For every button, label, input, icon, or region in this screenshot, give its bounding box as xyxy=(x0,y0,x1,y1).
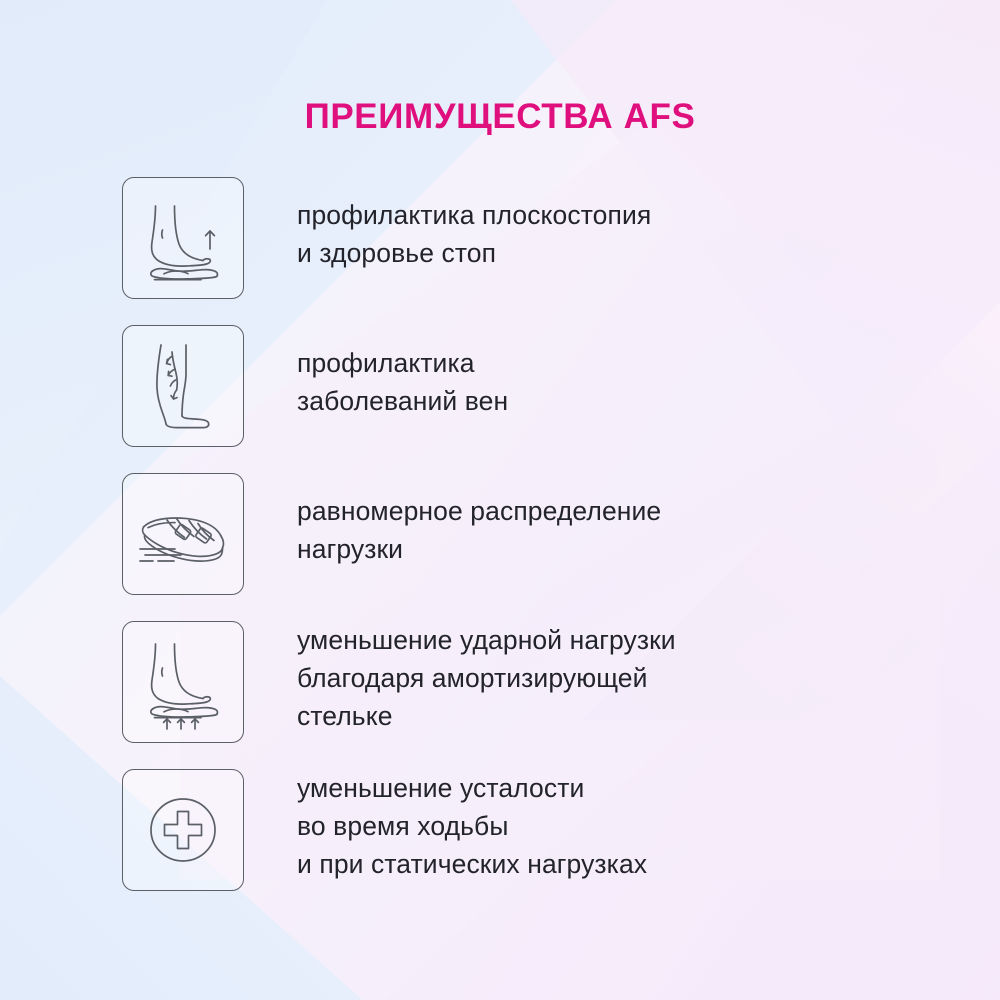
benefit-icon-box-5 xyxy=(122,769,244,891)
benefit-item-5: уменьшение усталости во время ходьбы и п… xyxy=(0,769,1000,917)
poster-canvas: ПРЕИМУЩЕСТВА AFS xyxy=(0,0,1000,1000)
foot-on-insole-up-arrow-icon xyxy=(131,186,235,290)
benefit-line: заболеваний вен xyxy=(297,382,857,420)
benefit-line: во время ходьбы xyxy=(297,807,857,845)
benefit-line: нагрузки xyxy=(297,530,857,568)
foot-on-insole-three-arrows-icon xyxy=(131,630,235,734)
benefit-line: стельке xyxy=(297,697,857,735)
benefit-icon-box-2 xyxy=(122,325,244,447)
benefit-item-1: профилактика плоскостопия и здоровье сто… xyxy=(0,177,1000,325)
benefit-line: уменьшение усталости xyxy=(297,769,857,807)
benefit-icon-box-1 xyxy=(122,177,244,299)
benefit-item-4: уменьшение ударной нагрузки благодаря ам… xyxy=(0,621,1000,769)
benefit-line: профилактика xyxy=(297,344,857,382)
sandal-motion-icon xyxy=(131,482,235,586)
benefit-text-4: уменьшение ударной нагрузки благодаря ам… xyxy=(297,621,857,735)
benefit-line: уменьшение ударной нагрузки xyxy=(297,621,857,659)
benefit-item-2: профилактика заболеваний вен xyxy=(0,325,1000,473)
page-title: ПРЕИМУЩЕСТВА AFS xyxy=(0,97,1000,137)
benefit-text-1: профилактика плоскостопия и здоровье сто… xyxy=(297,196,857,272)
leg-veins-icon xyxy=(131,334,235,438)
benefit-text-3: равномерное распределение нагрузки xyxy=(297,492,857,568)
benefit-line: и при статических нагрузках xyxy=(297,845,857,883)
benefit-line: благодаря амортизирующей xyxy=(297,659,857,697)
medical-cross-circle-icon xyxy=(131,778,235,882)
benefit-text-5: уменьшение усталости во время ходьбы и п… xyxy=(297,769,857,883)
benefit-item-3: равномерное распределение нагрузки xyxy=(0,473,1000,621)
benefit-icon-box-3 xyxy=(122,473,244,595)
benefit-icon-box-4 xyxy=(122,621,244,743)
benefit-line: и здоровье стоп xyxy=(297,234,857,272)
benefit-line: профилактика плоскостопия xyxy=(297,196,857,234)
benefit-text-2: профилактика заболеваний вен xyxy=(297,344,857,420)
benefits-list: профилактика плоскостопия и здоровье сто… xyxy=(0,177,1000,917)
benefit-line: равномерное распределение xyxy=(297,492,857,530)
